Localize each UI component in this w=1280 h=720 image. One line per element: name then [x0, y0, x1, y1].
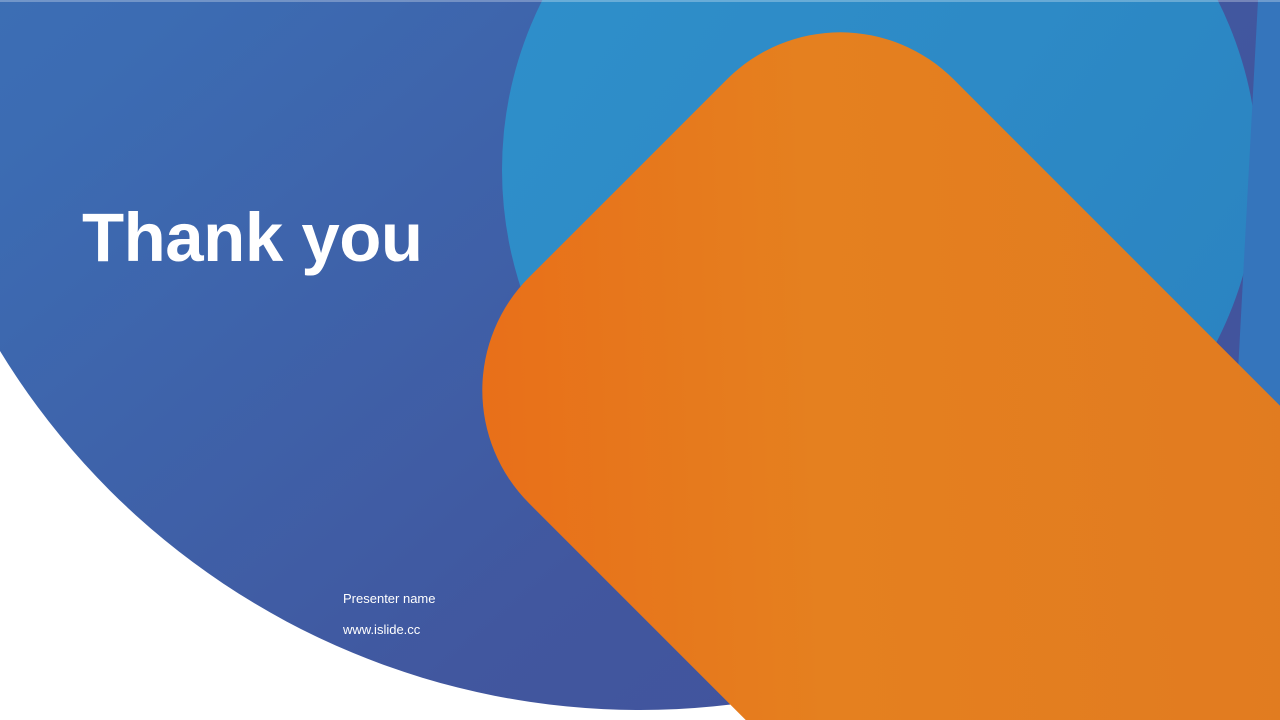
presenter-name: Presenter name: [343, 592, 643, 605]
page-title: Thank you: [82, 203, 423, 272]
website-url: www.islide.cc: [343, 623, 643, 636]
presentation-slide: Thank you Presenter name www.islide.cc: [0, 0, 1280, 720]
presenter-info-block: Presenter name www.islide.cc: [343, 592, 643, 636]
